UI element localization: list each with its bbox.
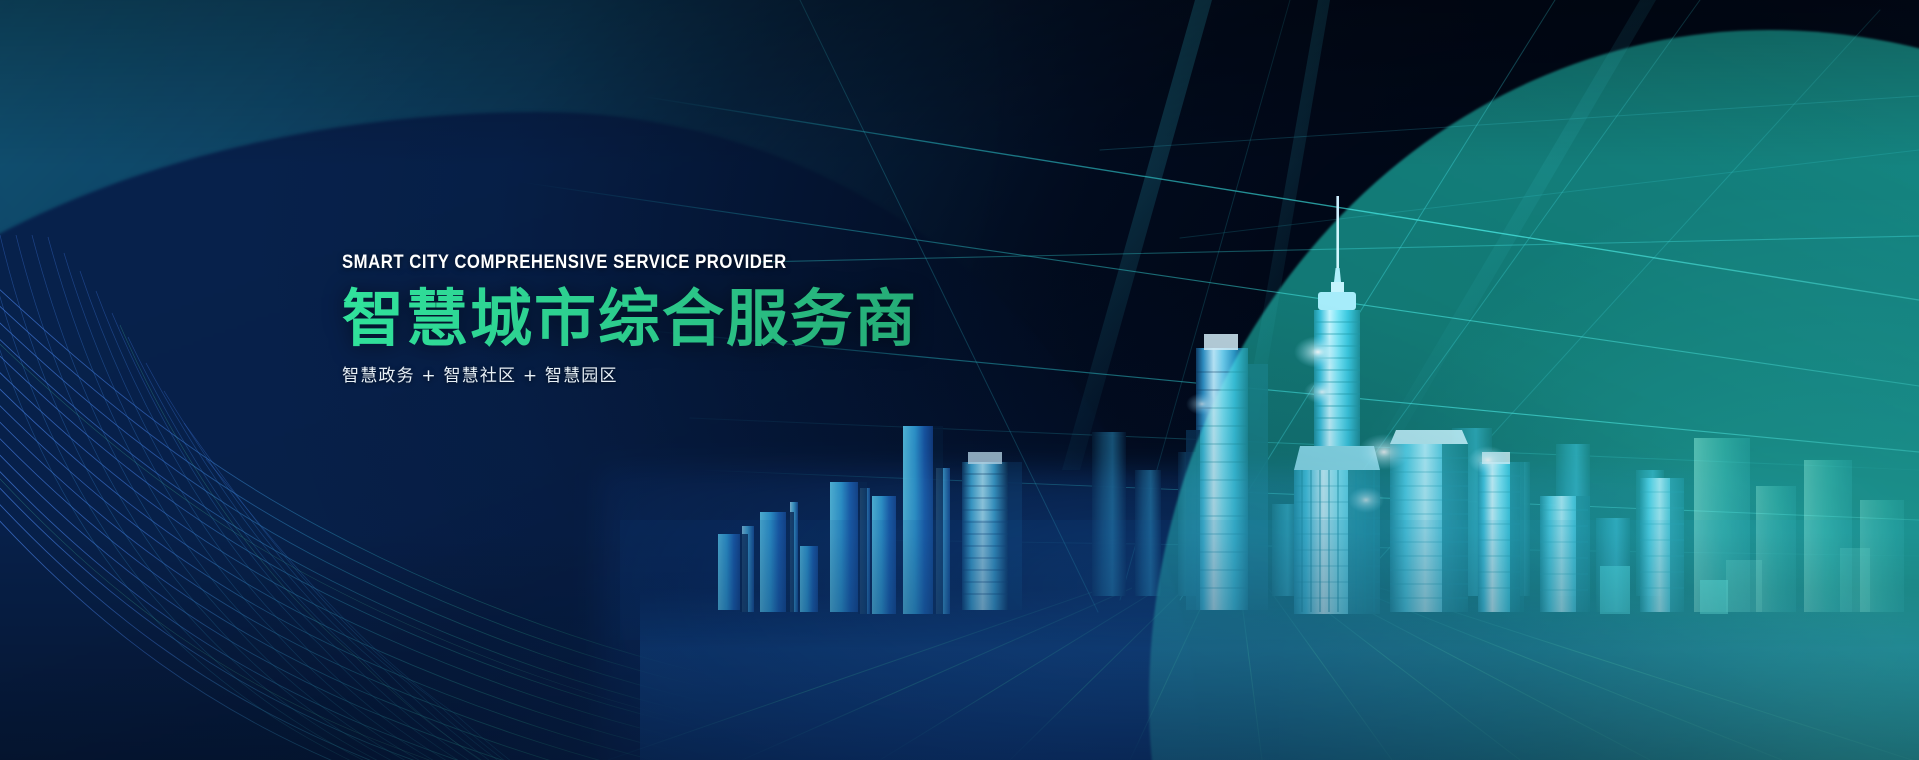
banner-headline: 智慧城市综合服务商: [342, 286, 962, 352]
banner-subline: 智慧政务 + 智慧社区 + 智慧园区: [342, 368, 962, 385]
banner-eyebrow: SMART CITY COMPREHENSIVE SERVICE PROVIDE…: [342, 253, 888, 272]
hero-banner: SMART CITY COMPREHENSIVE SERVICE PROVIDE…: [0, 0, 1919, 760]
hero-text-block: SMART CITY COMPREHENSIVE SERVICE PROVIDE…: [342, 253, 962, 385]
